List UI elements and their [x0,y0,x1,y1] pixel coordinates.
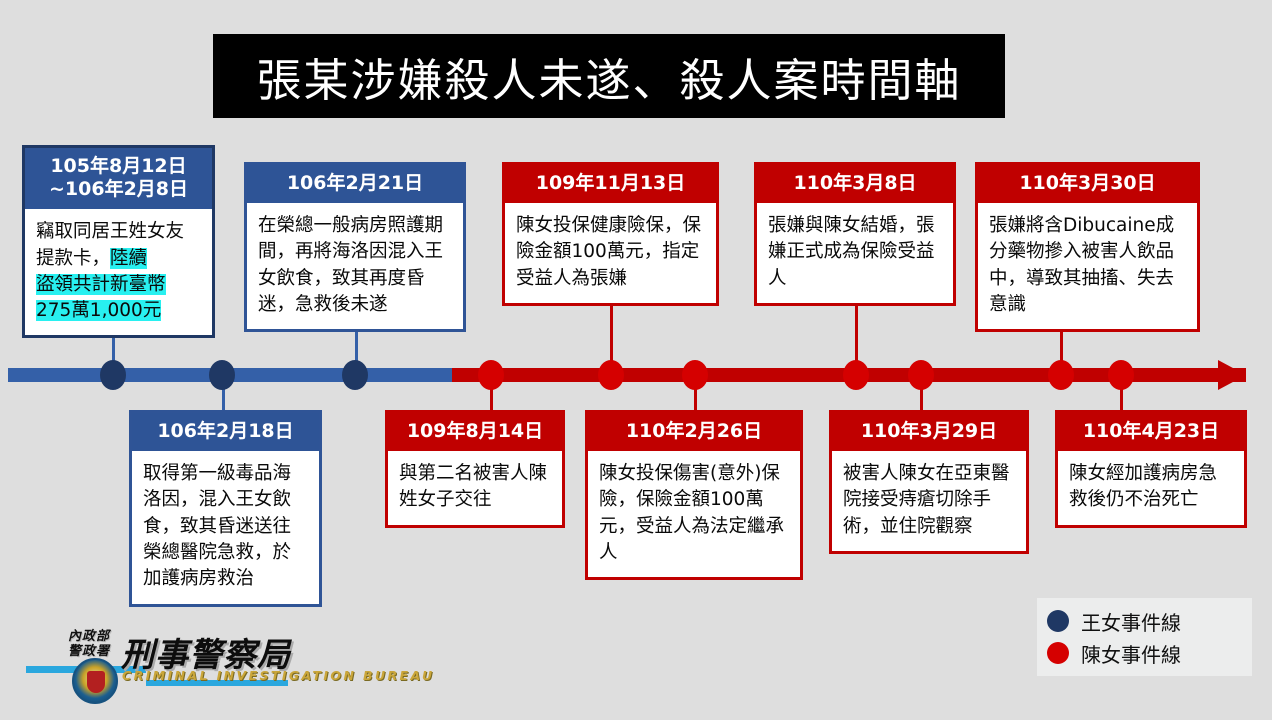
legend: 王女事件線 陳女事件線 [1037,598,1252,676]
legend-label-chen: 陳女事件線 [1081,639,1181,668]
event-date-bottom-3: 110年2月26日 [588,413,800,451]
event-text-seg-highlight: 陸續 [110,248,147,269]
timeline-dot-red-4[interactable] [843,360,869,390]
event-text-seg: 竊取同居王姓女 [36,221,166,242]
legend-dot-red-icon [1047,642,1069,664]
timeline-dot-red-5[interactable] [908,360,934,390]
page-title-bar: 張某涉嫌殺人未遂、殺人案時間軸 [213,34,1005,118]
event-card-bottom-2[interactable]: 109年8月14日 與第二名被害人陳姓女子交往 [385,410,565,528]
timeline-dot-red-7[interactable] [1108,360,1134,390]
event-card-bottom-1[interactable]: 106年2月18日 取得第一級毒品海洛因，混入王女飲食，致其昏迷送往榮總醫院急救… [129,410,322,607]
timeline-dot-navy-3[interactable] [342,360,368,390]
legend-item-chen: 陳女事件線 [1047,637,1242,669]
event-date-bottom-4: 110年3月29日 [832,413,1026,451]
event-body-bottom-2: 與第二名被害人陳姓女子交往 [388,451,562,525]
agency-logo: 內政部 警政署 刑事警察局 CRIMINAL INVESTIGATION BUR… [26,628,288,710]
event-body-top-2: 在榮總一般病房照護期間，再將海洛因混入王女飲食，致其再度昏迷，急救後未遂 [247,203,463,329]
event-date-top-3: 109年11月13日 [505,165,716,203]
event-date-top-2: 106年2月21日 [247,165,463,203]
event-body-top-1: 竊取同居王姓女友提款卡，陸續盜領共計新臺幣275萬1,000元 [25,209,212,335]
event-body-bottom-5: 陳女經加護病房急救後仍不治死亡 [1058,451,1244,525]
event-card-bottom-4[interactable]: 110年3月29日 被害人陳女在亞東醫院接受痔瘡切除手術，並住院觀察 [829,410,1029,554]
event-card-bottom-5[interactable]: 110年4月23日 陳女經加護病房急救後仍不治死亡 [1055,410,1247,528]
event-date-bottom-1: 106年2月18日 [132,413,319,451]
event-text-seg-highlight: 275萬1,000元 [36,300,161,321]
timeline-dot-navy-1[interactable] [100,360,126,390]
timeline-dot-red-1[interactable] [478,360,504,390]
infographic-canvas: 張某涉嫌殺人未遂、殺人案時間軸 105年8月12日 ~106年2月8日 竊取同居… [0,0,1272,720]
timeline-dot-navy-2[interactable] [209,360,235,390]
event-body-bottom-4: 被害人陳女在亞東醫院接受痔瘡切除手術，並住院觀察 [832,451,1026,551]
page-title: 張某涉嫌殺人未遂、殺人案時間軸 [256,44,961,109]
event-card-top-1[interactable]: 105年8月12日 ~106年2月8日 竊取同居王姓女友提款卡，陸續盜領共計新臺… [22,145,215,338]
timeline-dot-red-6[interactable] [1048,360,1074,390]
event-card-top-2[interactable]: 106年2月21日 在榮總一般病房照護期間，再將海洛因混入王女飲食，致其再度昏迷… [244,162,466,332]
event-text-seg-highlight: 盜領共計新臺幣 [36,274,166,295]
event-card-top-5[interactable]: 110年3月30日 張嫌將含Dibucaine成分藥物摻入被害人飲品中，導致其抽… [975,162,1200,332]
timeline-dot-red-3[interactable] [682,360,708,390]
event-date-top-4: 110年3月8日 [757,165,953,203]
event-body-bottom-3: 陳女投保傷害(意外)保險，保險金額100萬元，受益人為法定繼承人 [588,451,800,577]
event-date-top-1: 105年8月12日 ~106年2月8日 [25,148,212,209]
event-body-bottom-1: 取得第一級毒品海洛因，混入王女飲食，致其昏迷送往榮總醫院急救，於加護病房救治 [132,451,319,603]
event-card-top-4[interactable]: 110年3月8日 張嫌與陳女結婚，張嫌正式成為保險受益人 [754,162,956,306]
event-card-top-3[interactable]: 109年11月13日 陳女投保健康險保，保險金額100萬元，指定受益人為張嫌 [502,162,719,306]
logo-ministry-text: 內政部 警政署 [68,630,110,659]
event-body-top-4: 張嫌與陳女結婚，張嫌正式成為保險受益人 [757,203,953,303]
timeline-arrow-icon [1218,360,1246,390]
legend-item-wang: 王女事件線 [1047,605,1242,637]
legend-label-wang: 王女事件線 [1081,607,1181,636]
timeline-dot-red-2[interactable] [598,360,624,390]
event-date-top-5: 110年3月30日 [978,165,1197,203]
event-body-top-3: 陳女投保健康險保，保險金額100萬元，指定受益人為張嫌 [505,203,716,303]
event-date-bottom-2: 109年8月14日 [388,413,562,451]
logo-english-text: CRIMINAL INVESTIGATION BUREAU [122,668,435,683]
logo-emblem-icon [72,658,118,704]
event-body-top-5: 張嫌將含Dibucaine成分藥物摻入被害人飲品中，導致其抽搐、失去意識 [978,203,1197,329]
event-date-bottom-5: 110年4月23日 [1058,413,1244,451]
legend-dot-navy-icon [1047,610,1069,632]
event-card-bottom-3[interactable]: 110年2月26日 陳女投保傷害(意外)保險，保險金額100萬元，受益人為法定繼… [585,410,803,580]
